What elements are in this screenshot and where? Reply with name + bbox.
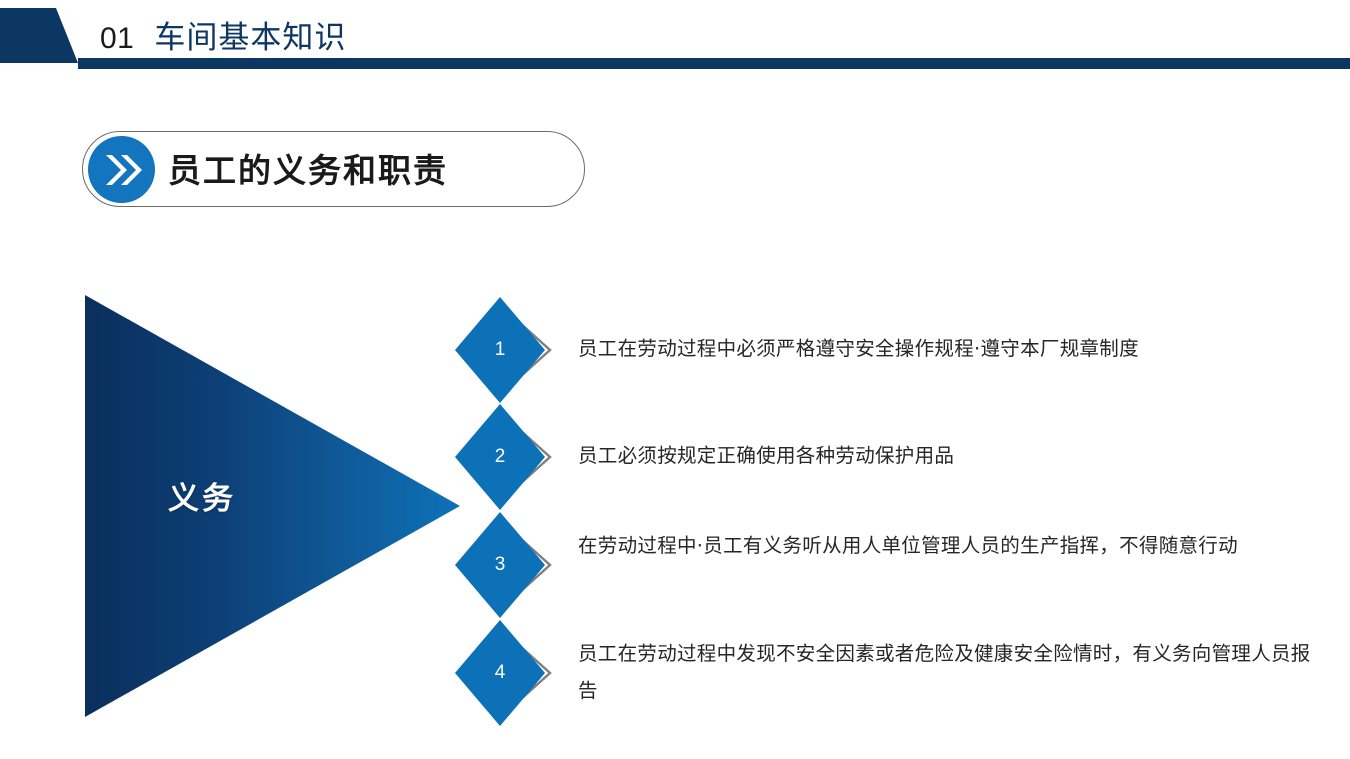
item-text: 员工在劳动过程中发现不安全因素或者危险及健康安全险情时，有义务向管理人员报告 <box>578 635 1318 709</box>
header-number: 01 <box>100 22 134 56</box>
item-text: 员工在劳动过程中必须严格遵守安全操作规程·遵守本厂规章制度 <box>578 330 1318 367</box>
funnel-triangle-shape <box>85 295 460 717</box>
diamond-marker-icon <box>455 512 573 618</box>
diamond-marker-icon <box>455 404 573 510</box>
section-title-text: 员工的义务和职责 <box>168 144 448 192</box>
diamond-marker-icon <box>455 297 573 403</box>
header-divider-rule <box>78 58 1350 69</box>
page-title: 01 车间基本知识 <box>100 12 346 54</box>
slide-header: 01 车间基本知识 <box>0 0 1350 75</box>
item-text: 在劳动过程中·员工有义务听从用人单位管理人员的生产指挥，不得随意行动 <box>578 527 1318 564</box>
funnel-label: 义务 <box>168 473 236 518</box>
item-text: 员工必须按规定正确使用各种劳动保护用品 <box>578 437 1318 474</box>
header-heading: 车间基本知识 <box>154 12 346 57</box>
double-chevron-right-icon <box>88 136 155 203</box>
header-badge-shape <box>0 8 78 63</box>
diamond-marker-icon <box>455 620 573 726</box>
